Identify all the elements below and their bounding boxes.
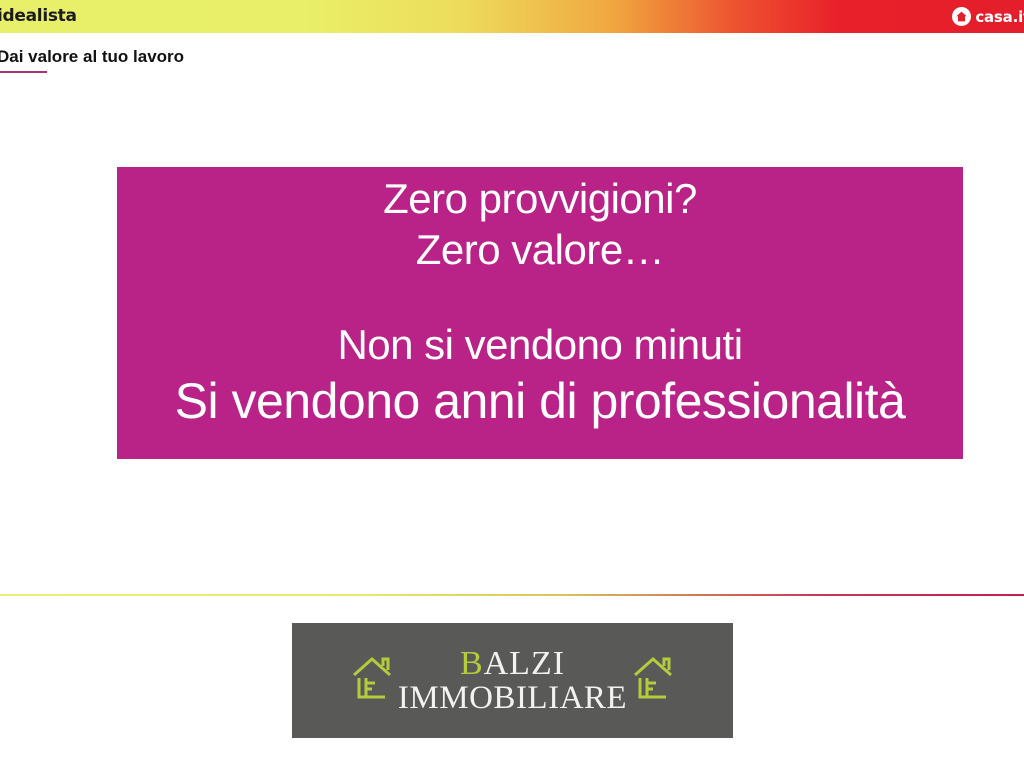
slide-subtitle: Dai valore al tuo lavoro	[0, 47, 417, 67]
slide-subtitle-block: Dai valore al tuo lavoro	[0, 47, 417, 67]
logo-name-rest: ALZI	[484, 645, 565, 682]
logo-name-balzi: BALZI	[460, 647, 565, 681]
casa-it-label: casa.it	[975, 8, 1024, 26]
house-icon	[952, 7, 971, 26]
idealista-brand-wordmark: idealista	[0, 6, 77, 26]
banner-line-non-si-vendono-minuti: Non si vendono minuti	[337, 319, 742, 370]
banner-line-zero-valore: Zero valore…	[416, 224, 664, 275]
logo-wordmark: BALZI IMMOBILIARE	[398, 647, 627, 715]
logo-name-first-letter: B	[460, 645, 484, 682]
casa-it-logo[interactable]: casa.it	[952, 7, 1024, 26]
logo-subtitle-immobiliare: IMMOBILIARE	[398, 682, 627, 715]
logo-inner-row: BALZI IMMOBILIARE	[292, 623, 733, 738]
subtitle-underline-accent	[0, 71, 47, 73]
house-outline-icon-left	[350, 653, 394, 708]
header-bar: idealista casa.it	[0, 0, 1024, 33]
magenta-message-banner: Zero provvigioni? Zero valore… Non si ve…	[117, 167, 963, 459]
footer-gradient-divider	[0, 594, 1024, 596]
banner-line-zero-provvigioni: Zero provvigioni?	[383, 173, 697, 224]
house-outline-icon-right	[631, 653, 675, 708]
banner-line-si-vendono-anni: Si vendono anni di professionalità	[175, 371, 906, 432]
balzi-immobiliare-logo-plate: BALZI IMMOBILIARE	[292, 623, 733, 738]
